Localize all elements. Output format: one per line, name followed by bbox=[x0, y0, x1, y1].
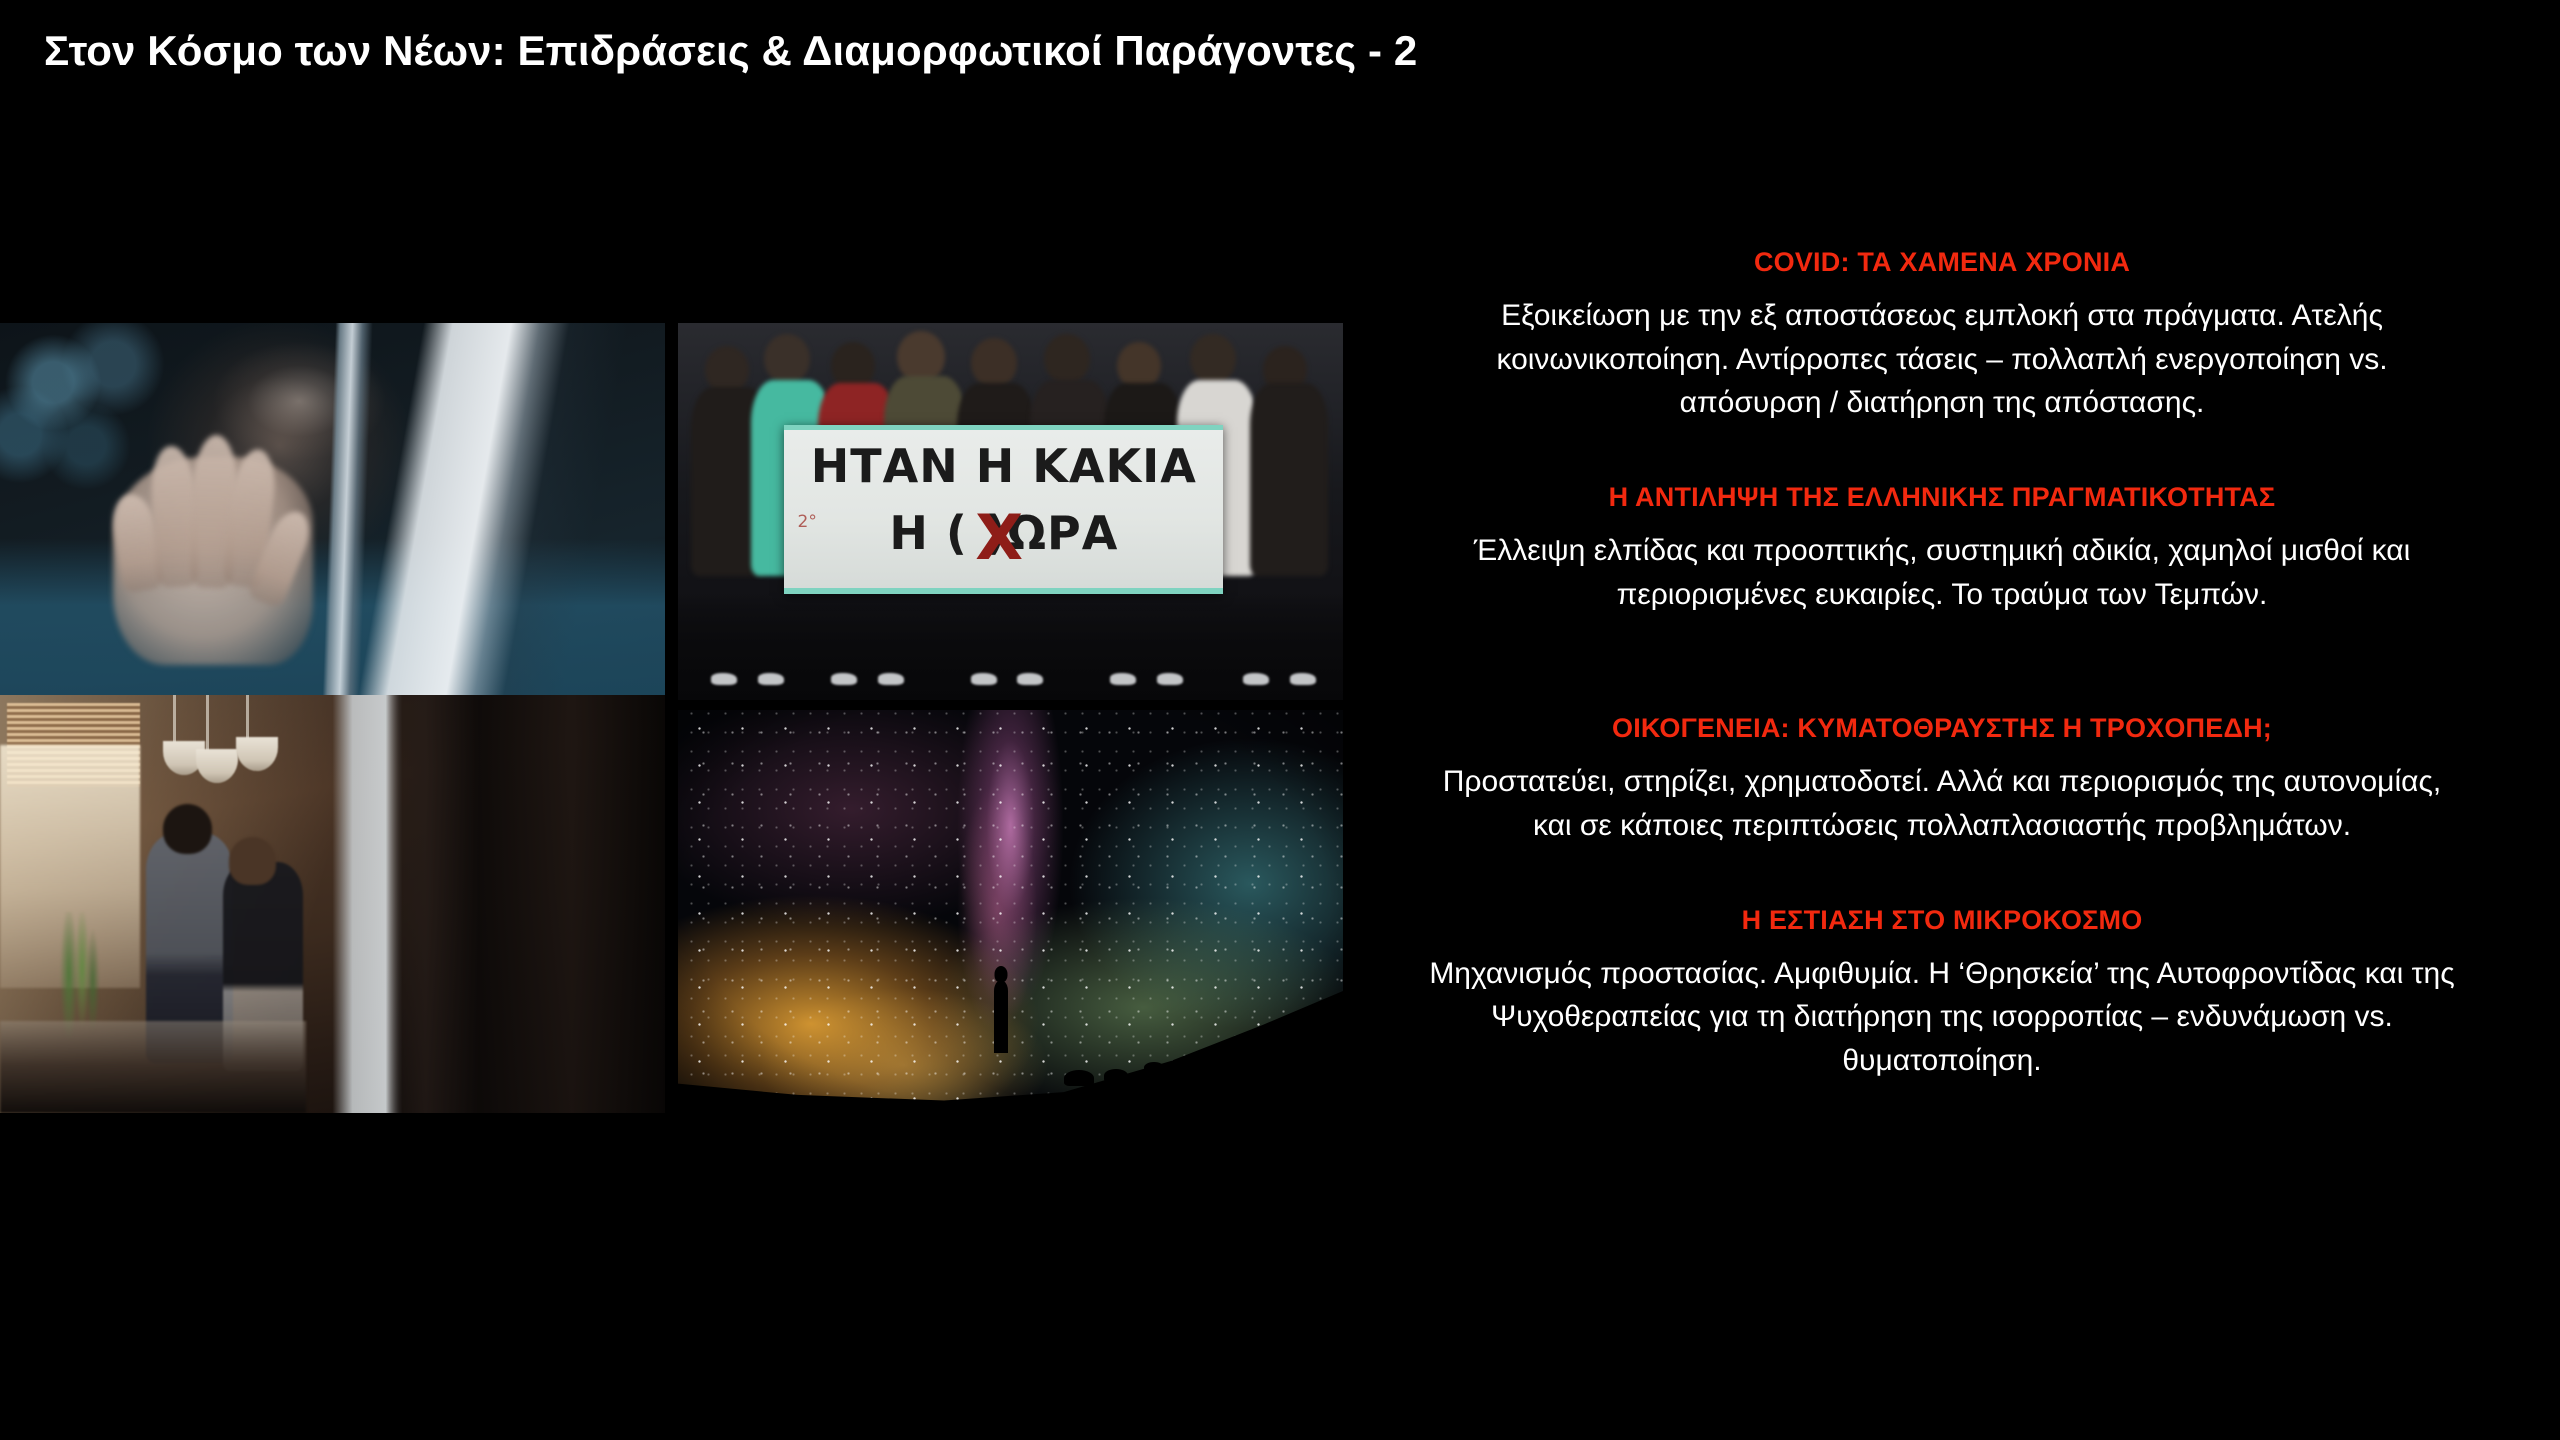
protest-banner: ΗΤΑΝ Η ΚΑΚΙΑ Η ( )ΩΡΑ Χ 2° bbox=[784, 425, 1223, 594]
section-heading-microcosm: Η ΕΣΤΙΑΣΗ ΣΤΟ ΜΙΚΡΟΚΟΣΜΟ bbox=[1428, 904, 2456, 938]
crowd-figure bbox=[897, 331, 945, 383]
pendant-lamp-shape bbox=[236, 737, 278, 771]
shoe-shape bbox=[971, 673, 997, 685]
content-text-column: COVID: ΤΑ ΧΑΜΕΝΑ ΧΡΟΝΙΑ Εξοικείωση με τη… bbox=[1428, 246, 2456, 1083]
shoe-shape bbox=[758, 673, 784, 685]
section-body-greek-reality: Έλλειψη ελπίδας και προοπτικής, συστημικ… bbox=[1428, 529, 2456, 617]
section-body-covid: Εξοικείωση με την εξ αποστάσεως εμπλοκή … bbox=[1428, 294, 2456, 425]
section-heading-greek-reality: Η ΑΝΤΙΛΗΨΗ ΤΗΣ ΕΛΛΗΝΙΚΗΣ ΠΡΑΓΜΑΤΙΚΟΤΗΤΑΣ bbox=[1428, 481, 2456, 515]
rock-shape bbox=[1144, 1062, 1164, 1073]
couple-in-kitchen-photo-canvas bbox=[0, 695, 665, 1113]
person-head-shape bbox=[163, 804, 212, 854]
lamp-cord-shape bbox=[206, 695, 209, 754]
section-body-microcosm: Μηχανισμός προστασίας. Αμφιθυμία. Η ‘Θρη… bbox=[1428, 952, 2456, 1083]
page-title: Στον Κόσμο των Νέων: Επιδράσεις & Διαμορ… bbox=[44, 26, 2244, 76]
shoe-shape bbox=[1243, 673, 1269, 685]
crowd-figure bbox=[1190, 334, 1236, 384]
shoe-shape bbox=[1157, 673, 1183, 685]
section-heading-family: ΟΙΚΟΓΕΝΕΙΑ: ΚΥΜΑΤΟΘΡΑΥΣΤΗΣ Η ΤΡΟΧΟΠΕΔΗ; bbox=[1428, 712, 2456, 746]
hand-on-window-photo bbox=[0, 323, 665, 695]
shoe-shape bbox=[711, 673, 737, 685]
section-covid: COVID: ΤΑ ΧΑΜΕΝΑ ΧΡΟΝΙΑ Εξοικείωση με τη… bbox=[1428, 246, 2456, 425]
couple-in-kitchen-photo bbox=[0, 695, 665, 1113]
person-head-shape bbox=[229, 837, 276, 885]
plant-shape bbox=[53, 912, 106, 1037]
hand-on-window-photo-canvas bbox=[0, 323, 665, 695]
crowd-figure bbox=[764, 334, 810, 384]
lamp-cord-shape bbox=[246, 695, 249, 741]
student-protest-photo: ΗΤΑΝ Η ΚΑΚΙΑ Η ( )ΩΡΑ Χ 2° bbox=[678, 323, 1343, 700]
rock-shape bbox=[1064, 1070, 1094, 1086]
kitchen-table-shape bbox=[0, 1021, 306, 1113]
protest-banner-line-1: ΗΤΑΝ Η ΚΑΚΙΑ bbox=[784, 439, 1223, 493]
rock-shape bbox=[1104, 1069, 1128, 1082]
student-protest-photo-canvas: ΗΤΑΝ Η ΚΑΚΙΑ Η ( )ΩΡΑ Χ 2° bbox=[678, 323, 1343, 700]
section-greek-reality: Η ΑΝΤΙΛΗΨΗ ΤΗΣ ΕΛΛΗΝΙΚΗΣ ΠΡΑΓΜΑΤΙΚΟΤΗΤΑΣ… bbox=[1428, 481, 2456, 616]
crowd-figure bbox=[971, 338, 1017, 388]
image-collage: ΗΤΑΝ Η ΚΑΚΙΑ Η ( )ΩΡΑ Χ 2° bbox=[0, 323, 1343, 1123]
standing-person-silhouette bbox=[994, 981, 1008, 1053]
shoe-shape bbox=[1017, 673, 1043, 685]
crowd-figure bbox=[1250, 383, 1328, 575]
section-family: ΟΙΚΟΓΕΝΕΙΑ: ΚΥΜΑΤΟΘΡΑΥΣΤΗΣ Η ΤΡΟΧΟΠΕΔΗ; … bbox=[1428, 712, 2456, 847]
section-microcosm: Η ΕΣΤΙΑΣΗ ΣΤΟ ΜΙΚΡΟΚΟΣΜΟ Μηχανισμός προσ… bbox=[1428, 904, 2456, 1083]
pendant-lamp-shape bbox=[196, 749, 238, 783]
crowd-figure bbox=[1044, 334, 1090, 384]
protest-banner-stamp: 2° bbox=[798, 512, 817, 532]
shoe-shape bbox=[878, 673, 904, 685]
slide-root: Στον Κόσμο των Νέων: Επιδράσεις & Διαμορ… bbox=[0, 0, 2560, 1440]
shoe-shape bbox=[831, 673, 857, 685]
section-heading-covid: COVID: ΤΑ ΧΑΜΕΝΑ ΧΡΟΝΙΑ bbox=[1428, 246, 2456, 280]
section-body-family: Προστατεύει, στηρίζει, χρηματοδοτεί. Αλλ… bbox=[1428, 760, 2456, 848]
protest-banner-marked-letter: Χ bbox=[975, 509, 1029, 567]
shoe-shape bbox=[1290, 673, 1316, 685]
lamp-cord-shape bbox=[173, 695, 176, 745]
person-under-starry-sky-photo bbox=[678, 710, 1343, 1123]
shoe-shape bbox=[1110, 673, 1136, 685]
person-under-starry-sky-photo-canvas bbox=[678, 710, 1343, 1123]
